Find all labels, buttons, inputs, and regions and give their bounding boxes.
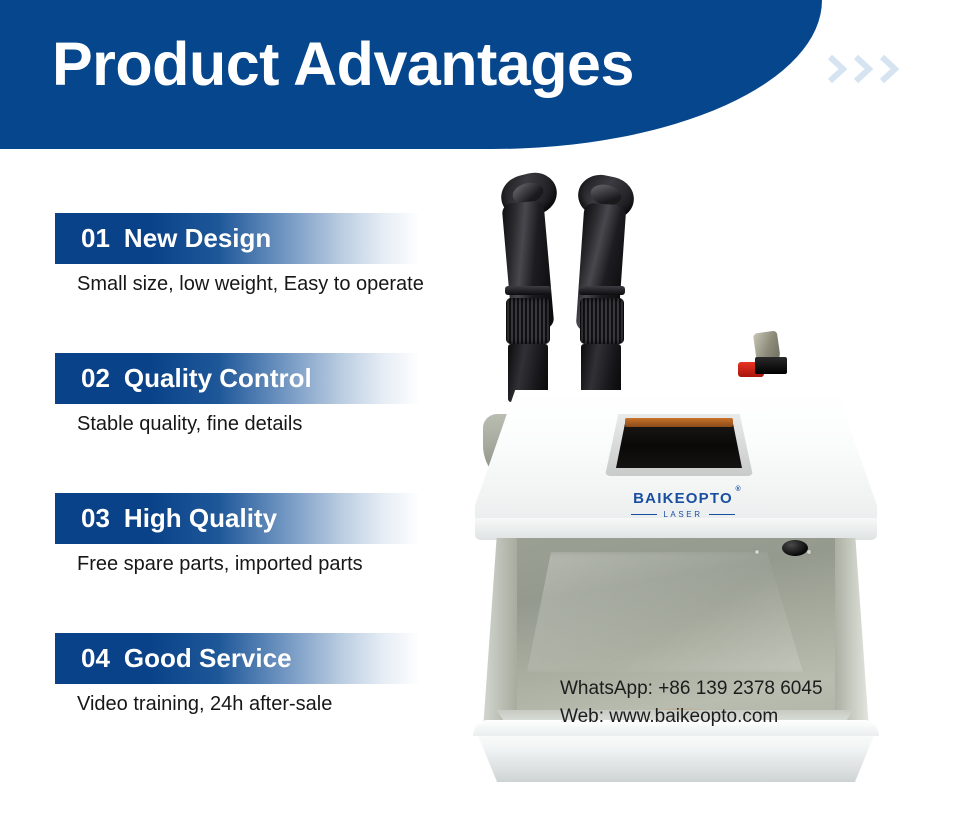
copper-bar	[625, 418, 733, 427]
feature-heading: 01 New Design	[81, 213, 271, 264]
feature-title: High Quality	[124, 503, 277, 534]
eyepiece-ring-left	[505, 286, 551, 295]
contact-block: WhatsApp: +86 139 2378 6045 Web: www.bai…	[560, 675, 823, 730]
feature-number: 02	[81, 363, 110, 394]
website-line: Web: www.baikeopto.com	[560, 703, 823, 731]
screw	[807, 550, 811, 554]
feature-number: 03	[81, 503, 110, 534]
feature-bar: 03 High Quality	[55, 493, 420, 544]
chamber-right-wall	[835, 538, 869, 730]
feature-heading: 04 Good Service	[81, 633, 292, 684]
black-connector	[755, 357, 787, 374]
whatsapp-line: WhatsApp: +86 139 2378 6045	[560, 675, 823, 703]
feature-description: Free spare parts, imported parts	[77, 553, 363, 576]
brand-name: BAIKEOPTO ®	[633, 490, 733, 507]
control-knob	[782, 540, 808, 556]
feature-description: Small size, low weight, Easy to operate	[77, 273, 424, 296]
feature-title: Quality Control	[124, 363, 312, 394]
feature-number: 04	[81, 643, 110, 674]
registered-trademark-icon: ®	[735, 486, 741, 493]
feature-bar: 04 Good Service	[55, 633, 420, 684]
feature-title: New Design	[124, 223, 271, 254]
screw	[755, 550, 759, 554]
chamber-glass-reflection	[515, 552, 815, 672]
chamber-left-wall	[483, 538, 517, 730]
feature-heading: 02 Quality Control	[81, 353, 312, 404]
deck-front-edge	[475, 518, 877, 540]
chevron-right-icon	[878, 52, 900, 91]
feature-heading: 03 High Quality	[81, 493, 277, 544]
chevron-right-icon	[826, 52, 848, 91]
brand-rule-left	[631, 514, 657, 515]
feature-bar: 01 New Design	[55, 213, 420, 264]
brand-logo: BAIKEOPTO ® LASER	[603, 490, 763, 519]
brand-rule-right	[709, 514, 735, 515]
slide-canvas: Product Advantages 01 New Design Small s…	[0, 0, 960, 821]
chevron-decoration	[826, 52, 900, 91]
chevron-right-icon	[852, 52, 874, 91]
feature-number: 01	[81, 223, 110, 254]
eyepiece-ring-right	[579, 286, 625, 295]
brand-subtitle: LASER	[603, 510, 763, 519]
feature-list: 01 New Design Small size, low weight, Ea…	[0, 0, 470, 821]
feature-description: Stable quality, fine details	[77, 413, 302, 436]
eyepiece-knurl-left	[506, 298, 550, 344]
brand-sub-label: LASER	[663, 510, 702, 519]
eyepiece-knurl-right	[580, 298, 624, 344]
feature-description: Video training, 24h after-sale	[77, 693, 332, 716]
feature-bar: 02 Quality Control	[55, 353, 420, 404]
feature-title: Good Service	[124, 643, 292, 674]
